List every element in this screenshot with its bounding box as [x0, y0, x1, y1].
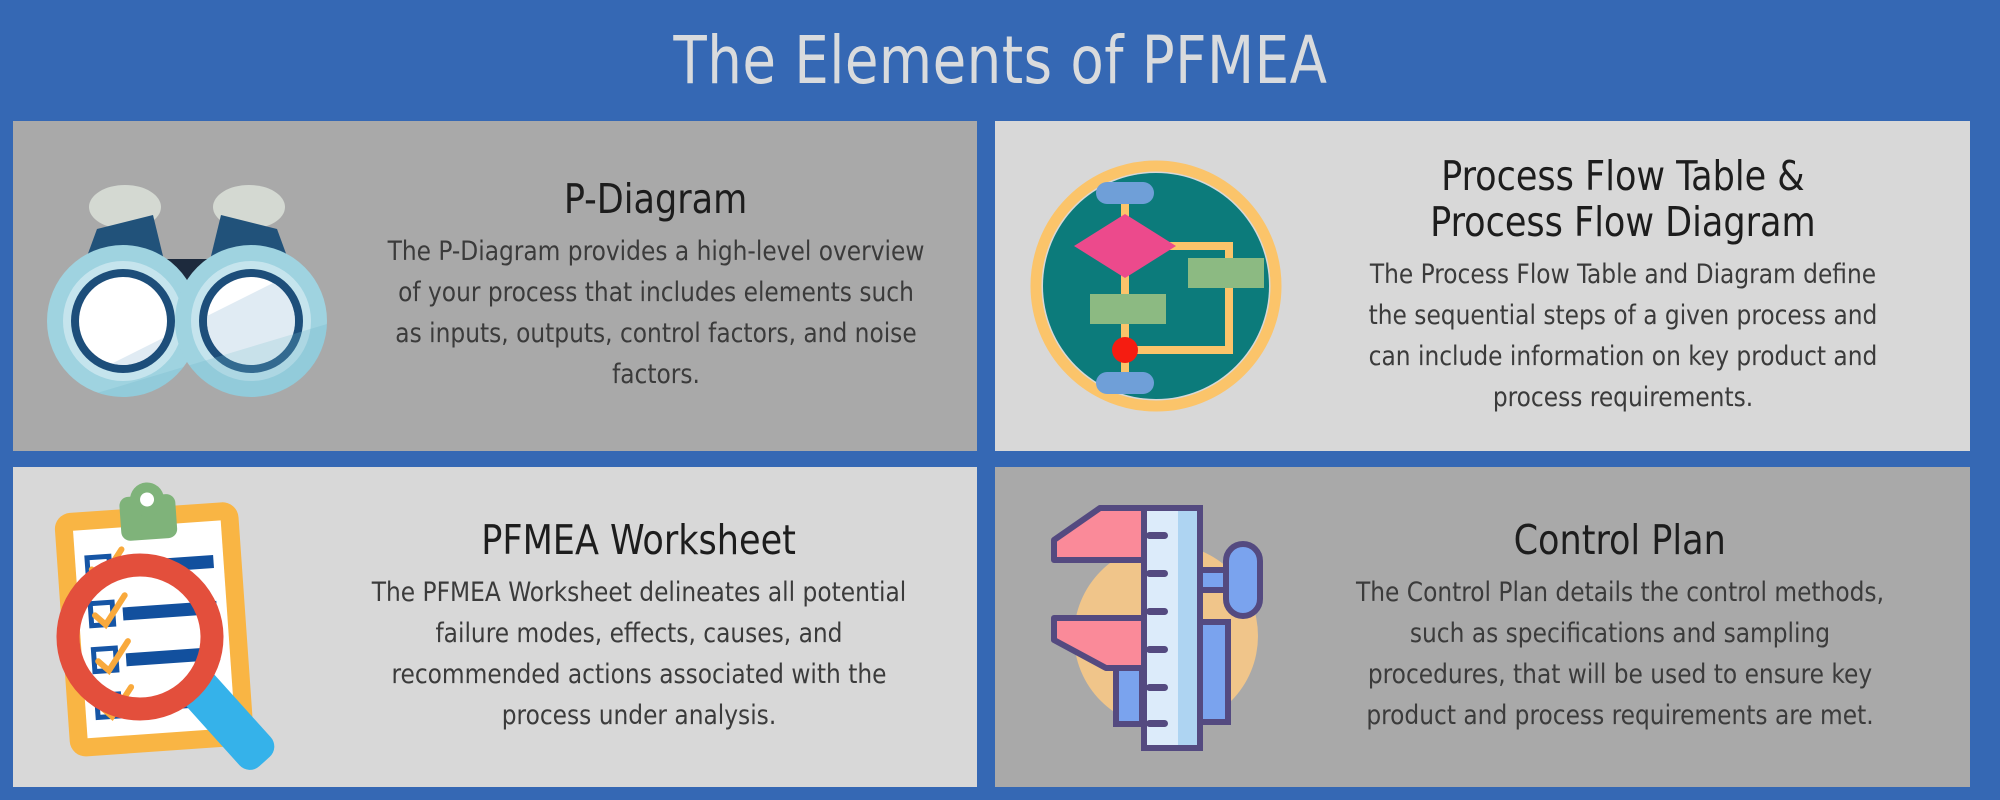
clipboard-magnifier-icon-container — [13, 482, 333, 772]
title-bar: The Elements of PFMEA — [0, 0, 2000, 121]
panel-body: The PFMEA Worksheet delineates all poten… — [370, 572, 908, 736]
panel-grid: P-Diagram The P-Diagram provides a high-… — [13, 121, 1988, 787]
panel-p-diagram-text: P-Diagram The P-Diagram provides a high-… — [361, 177, 977, 395]
panel-body: The Control Plan details the control met… — [1351, 572, 1889, 736]
caliper-icon — [1048, 500, 1288, 755]
panel-control-plan-text: Control Plan The Control Plan details th… — [1295, 518, 1970, 736]
clipboard-magnifier-icon — [28, 482, 318, 772]
panel-process-flow[interactable]: Process Flow Table & Process Flow Diagra… — [995, 121, 1970, 451]
panel-control-plan[interactable]: Control Plan The Control Plan details th… — [995, 467, 1970, 787]
binoculars-icon-container — [13, 171, 361, 401]
divider-cross — [977, 451, 995, 467]
flowchart-icon — [1030, 160, 1282, 412]
panel-body: The P-Diagram provides a high-level over… — [387, 231, 925, 395]
caliper-icon-container — [995, 500, 1295, 755]
binoculars-icon — [37, 171, 337, 401]
panel-body: The Process Flow Table and Diagram defin… — [1354, 254, 1892, 418]
panel-heading: P-Diagram — [564, 177, 747, 223]
panel-pfmea-worksheet[interactable]: PFMEA Worksheet The PFMEA Worksheet deli… — [13, 467, 977, 787]
vertical-divider-bottom — [977, 467, 995, 787]
page-title: The Elements of PFMEA — [673, 28, 1327, 94]
flowchart-icon-container — [995, 160, 1295, 412]
panel-heading: PFMEA Worksheet — [482, 518, 797, 564]
panel-heading: Process Flow Table & Process Flow Diagra… — [1430, 154, 1815, 246]
panel-heading: Control Plan — [1513, 518, 1725, 564]
panel-process-flow-text: Process Flow Table & Process Flow Diagra… — [1295, 154, 1970, 418]
panel-pfmea-worksheet-text: PFMEA Worksheet The PFMEA Worksheet deli… — [333, 518, 977, 736]
horizontal-divider-right — [995, 451, 1970, 467]
infographic-root: The Elements of PFMEA — [0, 0, 2000, 800]
vertical-divider-top — [977, 121, 995, 451]
panel-p-diagram[interactable]: P-Diagram The P-Diagram provides a high-… — [13, 121, 977, 451]
horizontal-divider-left — [13, 451, 977, 467]
